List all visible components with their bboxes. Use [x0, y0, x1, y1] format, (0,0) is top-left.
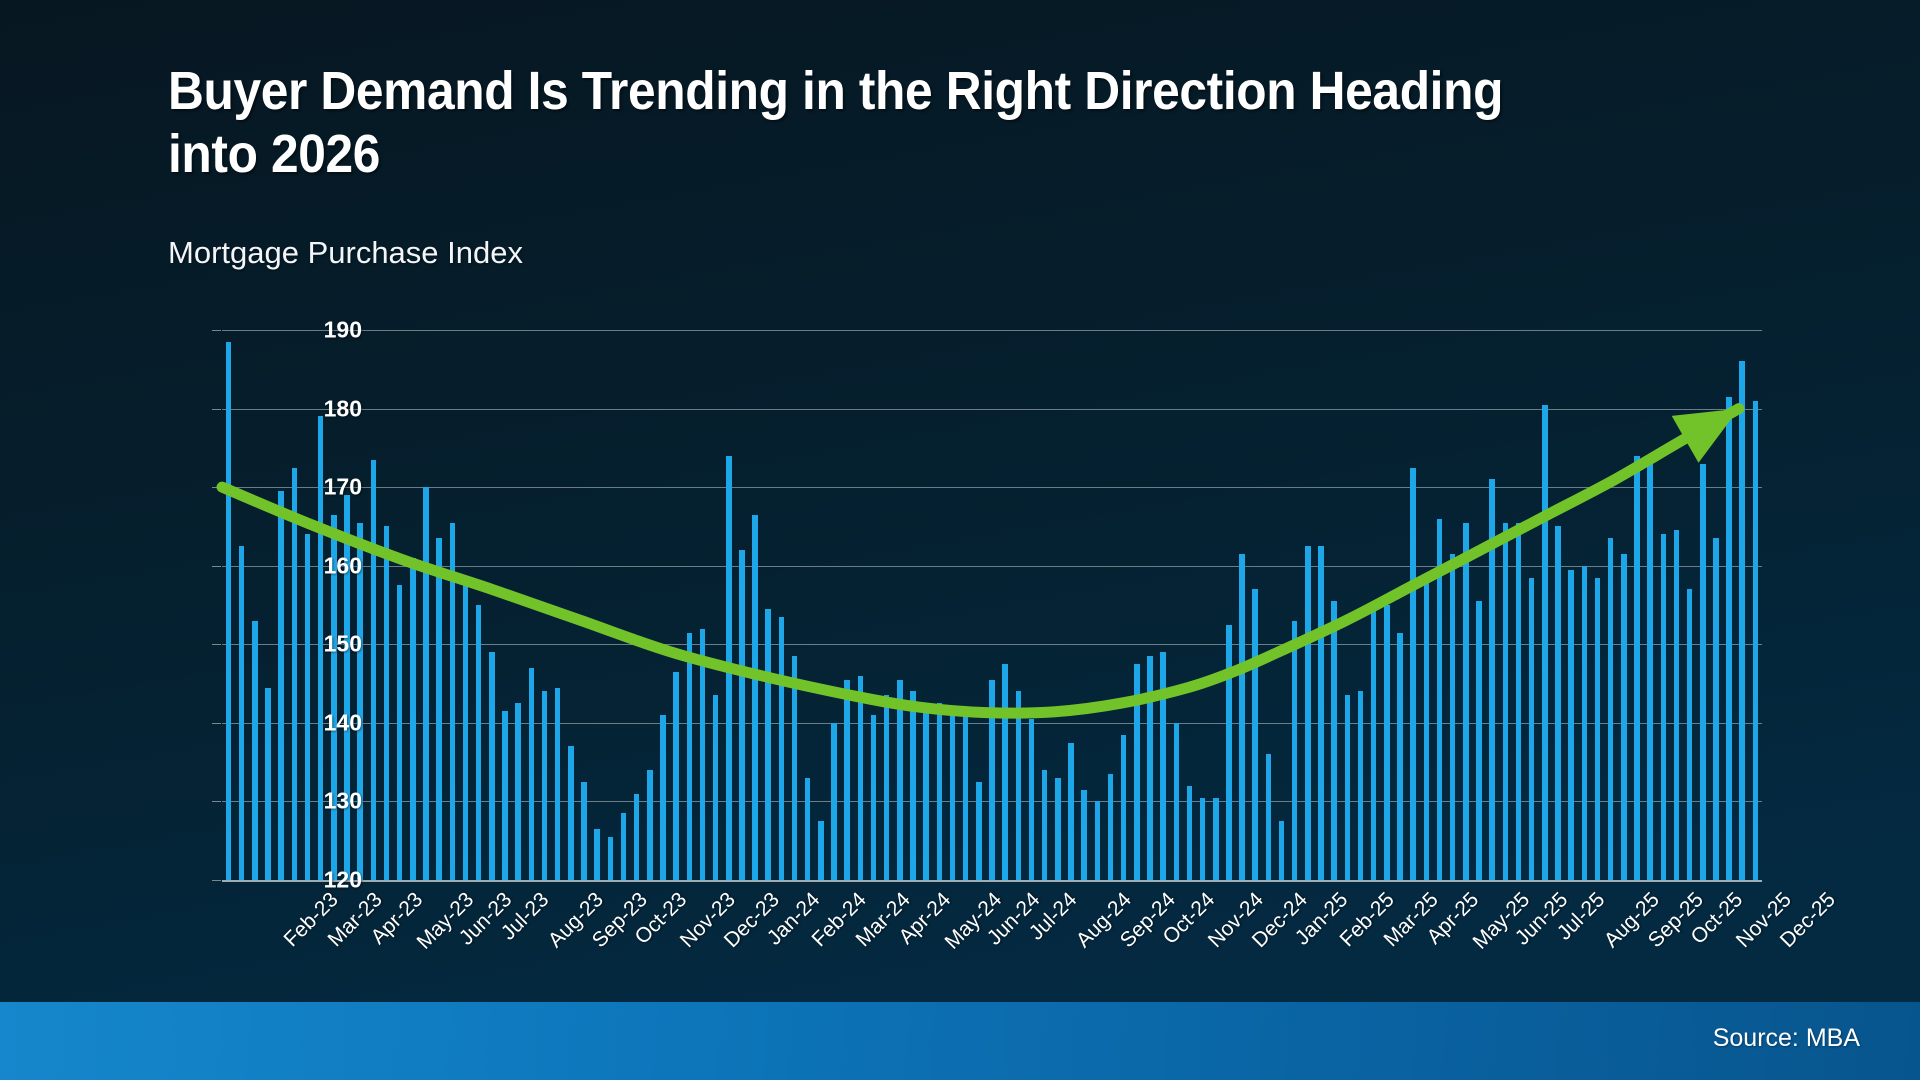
bar [989, 680, 995, 880]
y-axis-label-170: 170 [242, 474, 362, 501]
bar [1516, 523, 1522, 881]
bar [305, 534, 311, 880]
bar [1121, 735, 1127, 880]
bar [1542, 405, 1548, 880]
bar [1095, 801, 1101, 880]
bar [1397, 633, 1403, 881]
bar [687, 633, 693, 881]
bar [884, 695, 890, 880]
tickmark-150 [212, 644, 221, 645]
bar [542, 691, 548, 880]
bar-series [222, 330, 1762, 880]
y-axis-label-150: 150 [242, 631, 362, 658]
bar [292, 468, 298, 881]
bar [739, 550, 745, 880]
bar [1108, 774, 1114, 880]
bar [1331, 601, 1337, 880]
y-axis-label-160: 160 [242, 552, 362, 579]
bar [871, 715, 877, 880]
bar [515, 703, 521, 880]
y-axis-label-180: 180 [242, 395, 362, 422]
bar [1489, 479, 1495, 880]
bar [1068, 743, 1074, 881]
bar [937, 703, 943, 880]
bar [1410, 468, 1416, 881]
bar [1634, 456, 1640, 880]
tickmark-190 [212, 330, 221, 331]
bar [1002, 664, 1008, 880]
y-axis-label-190: 190 [242, 317, 362, 344]
source-attribution: Source: MBA [1713, 1024, 1860, 1053]
bar [1134, 664, 1140, 880]
bar [805, 778, 811, 880]
bar [1739, 361, 1745, 880]
bar [226, 342, 232, 880]
bar [1187, 786, 1193, 880]
bar [489, 652, 495, 880]
slide-root: Buyer Demand Is Trending in the Right Di… [0, 0, 1920, 1080]
bar [1700, 464, 1706, 880]
bar [1437, 519, 1443, 880]
bar [1424, 581, 1430, 880]
tickmark-120 [212, 880, 221, 881]
bar [1608, 538, 1614, 880]
bar [1239, 554, 1245, 880]
bar [1160, 652, 1166, 880]
bar [397, 585, 403, 880]
bar [673, 672, 679, 880]
bar [1358, 691, 1364, 880]
bar [608, 837, 614, 880]
tickmark-160 [212, 566, 221, 567]
bar [1305, 546, 1311, 880]
bar [634, 794, 640, 880]
bar [1713, 538, 1719, 880]
bar [1042, 770, 1048, 880]
bar [1371, 609, 1377, 880]
bar [1252, 589, 1258, 880]
bar [278, 491, 284, 880]
chart-subtitle: Mortgage Purchase Index [168, 235, 523, 271]
bar [1292, 621, 1298, 880]
bar [1687, 589, 1693, 880]
bar [410, 558, 416, 880]
bar [831, 723, 837, 880]
bar [1555, 526, 1561, 880]
gridline-120 [222, 880, 1762, 882]
tickmark-130 [212, 801, 221, 802]
bar [1055, 778, 1061, 880]
bar [1661, 534, 1667, 880]
footer-band: Source: MBA [0, 1002, 1920, 1080]
bar [423, 487, 429, 880]
bar [502, 711, 508, 880]
bar [384, 526, 390, 880]
bar [621, 813, 627, 880]
bar [713, 695, 719, 880]
bar [1029, 719, 1035, 880]
bar [476, 605, 482, 880]
bar [976, 782, 982, 880]
bar [1384, 605, 1390, 880]
tickmark-180 [212, 409, 221, 410]
bar [1595, 578, 1601, 881]
y-axis-label-140: 140 [242, 709, 362, 736]
bar [660, 715, 666, 880]
bar [371, 460, 377, 880]
bar [1226, 625, 1232, 880]
bar [1147, 656, 1153, 880]
bar [1081, 790, 1087, 880]
bar [1674, 530, 1680, 880]
bar [1529, 578, 1535, 881]
tickmark-140 [212, 723, 221, 724]
bar [1647, 460, 1653, 880]
bar [1213, 798, 1219, 881]
bar [1582, 566, 1588, 880]
bar [1200, 798, 1206, 881]
bar [858, 676, 864, 880]
chart-plot-area [222, 330, 1762, 880]
bar [450, 523, 456, 881]
bar [1476, 601, 1482, 880]
bar [463, 578, 469, 881]
y-axis-label-130: 130 [242, 788, 362, 815]
bar [765, 609, 771, 880]
bar [897, 680, 903, 880]
bar [910, 691, 916, 880]
page-title: Buyer Demand Is Trending in the Right Di… [168, 60, 1603, 185]
bar [792, 656, 798, 880]
bar [818, 821, 824, 880]
bar [752, 515, 758, 880]
x-axis-labels: Feb-23Mar-23Apr-23May-23Jun-23Jul-23Aug-… [222, 888, 1762, 1018]
tickmark-170 [212, 487, 221, 488]
bar [581, 782, 587, 880]
bar [1450, 554, 1456, 880]
bar [779, 617, 785, 880]
bar [1318, 546, 1324, 880]
bar [1503, 523, 1509, 881]
bar [555, 688, 561, 881]
bar [1568, 570, 1574, 880]
bar [594, 829, 600, 880]
bar [963, 715, 969, 880]
bar [1279, 821, 1285, 880]
bar [1621, 554, 1627, 880]
bar [436, 538, 442, 880]
bar [529, 668, 535, 880]
bar [1753, 401, 1759, 880]
bar [647, 770, 653, 880]
bar [1016, 691, 1022, 880]
bar [844, 680, 850, 880]
bar [1726, 397, 1732, 880]
bar [923, 711, 929, 880]
bar [700, 629, 706, 880]
bar [252, 621, 258, 880]
bar [568, 746, 574, 880]
bar [726, 456, 732, 880]
bar [950, 707, 956, 880]
bar [1463, 523, 1469, 881]
bar [1174, 723, 1180, 880]
bar [1345, 695, 1351, 880]
bar [1266, 754, 1272, 880]
